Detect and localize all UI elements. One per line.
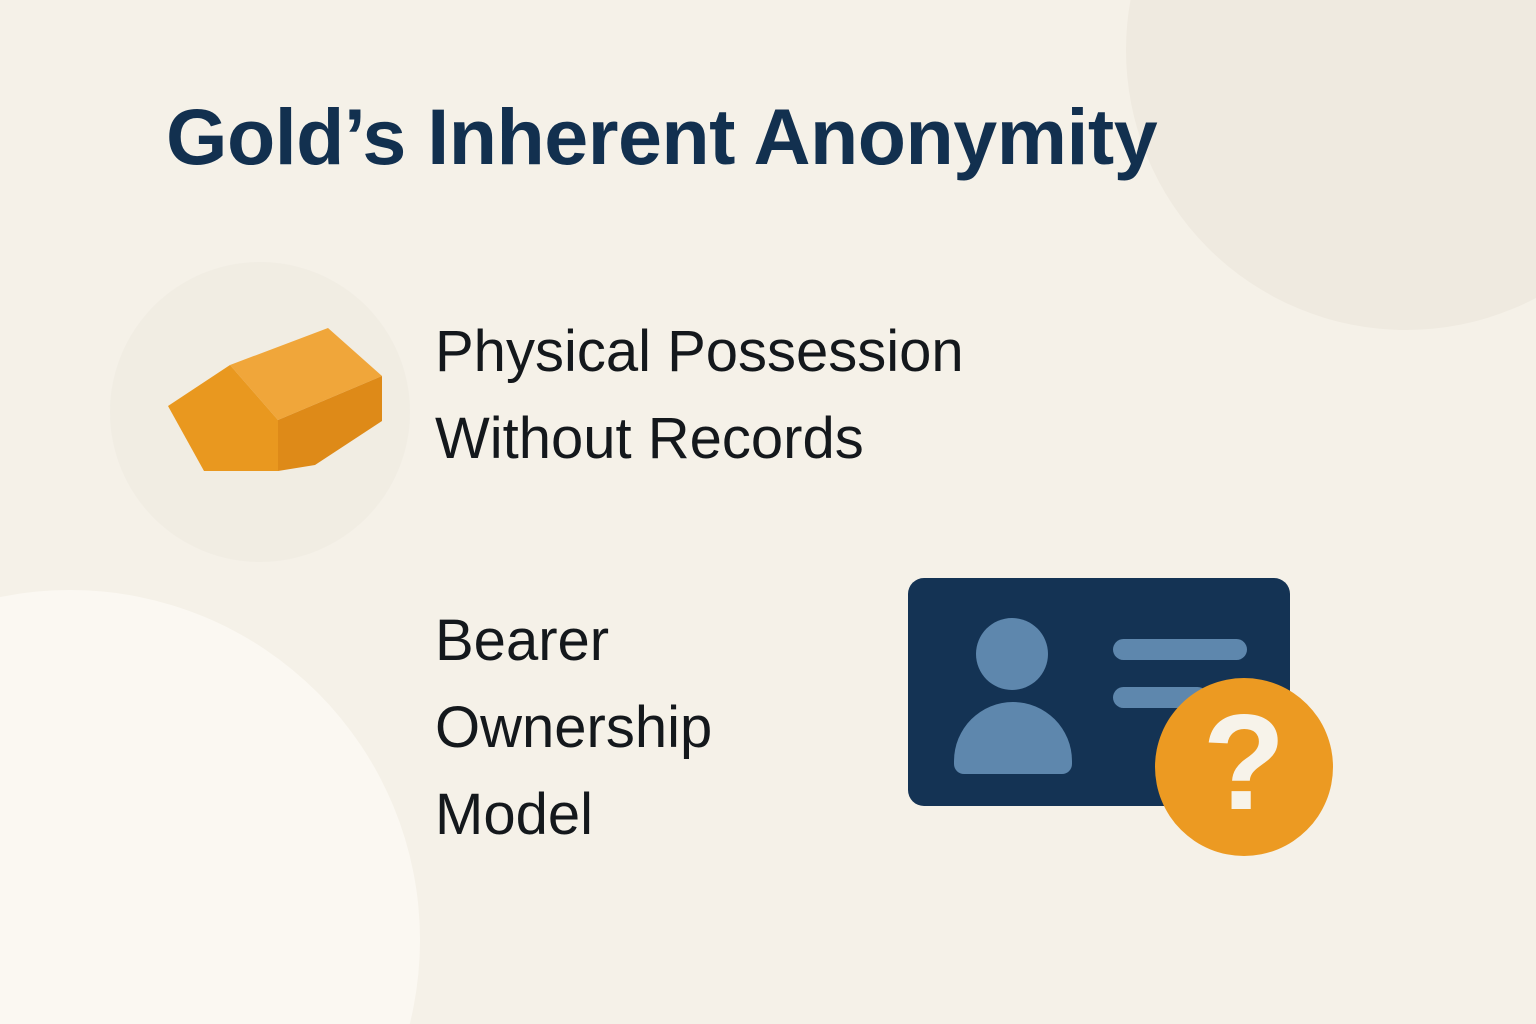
question-mark-badge-icon: ? [1155, 678, 1333, 856]
person-avatar-body-icon [954, 702, 1072, 774]
id-card-detail-line-1 [1113, 639, 1247, 660]
page-title: Gold’s Inherent Anonymity [166, 96, 1366, 179]
person-avatar-head-icon [976, 618, 1048, 690]
feature-row-physical-possession: Physical Possession Without Records [150, 300, 1150, 500]
gold-bar-icon [160, 318, 390, 478]
feature-label-physical-possession: Physical Possession Without Records [435, 308, 1135, 482]
question-mark-glyph: ? [1202, 694, 1285, 830]
feature-label-bearer-ownership: Bearer Ownership Model [435, 597, 855, 858]
id-card-unknown-icon: ? [900, 565, 1380, 895]
decorative-circle-bottom-left [0, 590, 420, 1024]
slide-canvas: Gold’s Inherent Anonymity Physical Posse… [0, 0, 1536, 1024]
